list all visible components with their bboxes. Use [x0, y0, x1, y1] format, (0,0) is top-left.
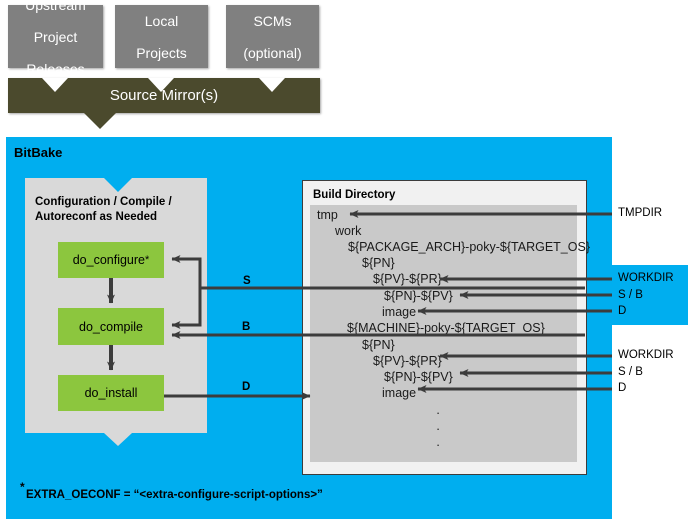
tree-row-package-arch-dir: ${PACKAGE_ARCH}-poky-${TARGET_OS} [348, 240, 590, 254]
notch-upstream-to-mirror [42, 78, 68, 92]
notch-local-to-mirror [148, 78, 174, 92]
task-do-install[interactable]: do_install [58, 375, 164, 411]
notch-scms-to-mirror [259, 78, 285, 92]
tree-row-pv-pr-2: ${PV}-${PR} [373, 354, 442, 368]
task-do-compile-label: do_compile [79, 320, 143, 334]
bitbake-title: BitBake [14, 145, 62, 160]
arrow-label-s: S [243, 275, 251, 287]
tree-row-machine-dir: ${MACHINE}-poky-${TARGET_OS} [347, 321, 545, 335]
config-panel-title: Configuration / Compile / Autoreconf as … [35, 195, 172, 225]
tree-row-pn-2: ${PN} [362, 338, 395, 352]
config-panel-title-line2: Autoreconf as Needed [35, 211, 157, 223]
source-box-line: Local [136, 13, 187, 29]
source-box-line: Upstream [25, 0, 86, 13]
tree-ellipsis-3: · [436, 438, 440, 452]
config-panel-title-line1: Configuration / Compile / [35, 196, 172, 208]
right-label-d-1: D [618, 305, 626, 317]
task-do-configure[interactable]: do_configure* [58, 242, 164, 278]
tree-ellipsis-2: · [436, 422, 440, 436]
footnote-text: EXTRA_OECONF = “<extra-configure-script-… [26, 489, 323, 501]
right-label-tmpdir: TMPDIR [618, 207, 662, 219]
bitbake-top-notch [86, 137, 114, 151]
source-box-upstream-project-releases: Upstream Project Releases [8, 5, 103, 68]
source-box-line: Releases [25, 61, 86, 77]
footnote-star: * [20, 480, 25, 494]
right-label-sb-2: S / B [618, 366, 643, 378]
task-do-configure-label: do_configure [73, 253, 145, 267]
tree-row-image-2: image [382, 386, 416, 400]
tree-row-pn-pv-1: ${PN}-${PV} [384, 289, 453, 303]
mirror-to-bitbake-arrow [84, 113, 116, 129]
config-panel-top-notch [104, 178, 132, 192]
source-box-line: (optional) [243, 45, 301, 61]
tree-row-pn-pv-2: ${PN}-${PV} [384, 370, 453, 384]
source-box-line: SCMs [243, 13, 301, 29]
right-label-d-2: D [618, 382, 626, 394]
task-do-install-label: do_install [85, 386, 138, 400]
source-box-scms-optional: SCMs (optional) [226, 5, 319, 68]
right-label-sb-1: S / B [618, 289, 643, 301]
tree-row-work: work [335, 224, 361, 238]
tree-ellipsis-1: · [436, 406, 440, 420]
source-box-line: Project [25, 29, 86, 45]
arrow-label-b: B [242, 321, 250, 333]
source-box-local-projects: Local Projects [115, 5, 208, 68]
tree-row-image-1: image [382, 305, 416, 319]
tree-row-pn-1: ${PN} [362, 256, 395, 270]
tree-row-pv-pr-1: ${PV}-${PR} [373, 272, 442, 286]
source-box-line: Projects [136, 45, 187, 61]
right-label-workdir-2: WORKDIR [618, 349, 674, 361]
build-directory-title: Build Directory [313, 189, 395, 201]
right-label-workdir-1: WORKDIR [618, 272, 674, 284]
task-do-compile[interactable]: do_compile [58, 308, 164, 345]
tree-row-tmp: tmp [317, 208, 338, 222]
arrow-label-d: D [242, 381, 250, 393]
config-panel-bottom-arrow [104, 433, 132, 446]
